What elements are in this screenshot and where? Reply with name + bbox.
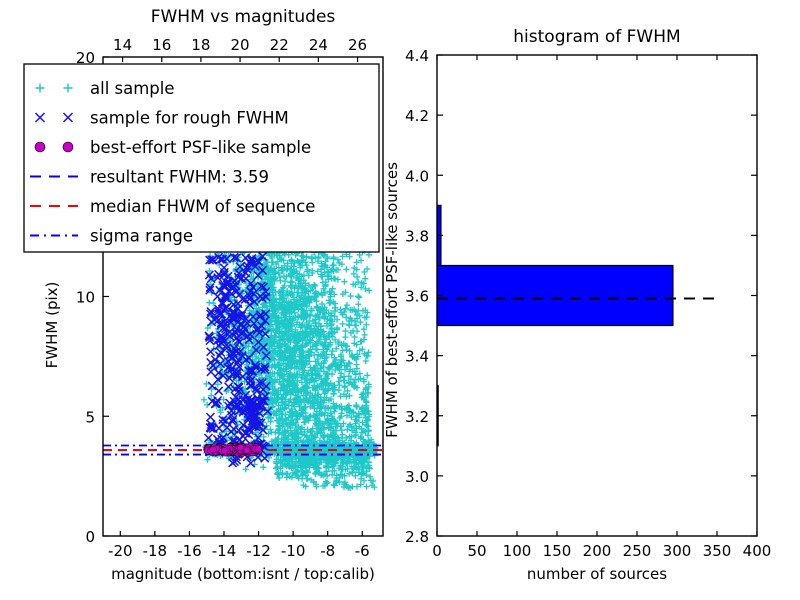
left-x-tick-label: -10 bbox=[281, 542, 306, 560]
left-x-tick-label: -16 bbox=[177, 542, 202, 560]
right-x-tick-label: 150 bbox=[543, 542, 572, 560]
left-x-tick-label: -8 bbox=[320, 542, 335, 560]
right-y-tick-label: 2.8 bbox=[405, 528, 429, 546]
left-y-tick-label: 5 bbox=[85, 408, 95, 426]
right-x-tick-label: 350 bbox=[703, 542, 732, 560]
left-x-tick-label: -14 bbox=[212, 542, 237, 560]
legend-label: median FHWM of sequence bbox=[90, 197, 315, 216]
left-top-tick-label: 26 bbox=[348, 36, 367, 54]
left-y-tick-label: 10 bbox=[76, 289, 95, 307]
left-top-tick-label: 24 bbox=[309, 36, 328, 54]
right-panel-title: histogram of FWHM bbox=[513, 27, 680, 47]
left-y-tick-label: 0 bbox=[85, 528, 95, 546]
right-x-tick-label: 250 bbox=[623, 542, 652, 560]
histogram-bar bbox=[437, 265, 673, 325]
right-x-tick-label: 300 bbox=[663, 542, 692, 560]
left-x-tick-label: -12 bbox=[246, 542, 271, 560]
legend-label: sigma range bbox=[90, 227, 193, 246]
legend-label: best-effort PSF-like sample bbox=[90, 138, 311, 157]
right-panel-ylabel: FWHM of best-effort PSF-like sources bbox=[383, 162, 401, 438]
right-y-tick-label: 3.2 bbox=[405, 408, 429, 426]
left-panel-title: FWHM vs magnitudes bbox=[151, 7, 336, 27]
figure-canvas: -20-18-16-14-12-10-8-6 14161820222426 05… bbox=[0, 0, 800, 600]
right-y-tick-label: 3.8 bbox=[405, 227, 429, 245]
right-panel-xlabel: number of sources bbox=[527, 565, 667, 583]
legend-label: sample for rough FWHM bbox=[90, 109, 289, 128]
legend-frame bbox=[24, 64, 379, 252]
left-top-tick-label: 18 bbox=[191, 36, 210, 54]
right-x-tick-label: 200 bbox=[583, 542, 612, 560]
right-y-tick-label: 4.2 bbox=[405, 107, 429, 125]
right-y-tick-label: 4.4 bbox=[405, 47, 429, 65]
right-x-tick-label: 400 bbox=[743, 542, 772, 560]
left-top-tick-label: 14 bbox=[113, 36, 132, 54]
right-y-tick-label: 3.6 bbox=[405, 288, 429, 306]
left-x-tick-label: -6 bbox=[355, 542, 370, 560]
left-panel-ylabel: FWHM (pix) bbox=[43, 282, 61, 369]
left-top-tick-label: 22 bbox=[270, 36, 289, 54]
legend-label: resultant FWHM: 3.59 bbox=[90, 168, 269, 187]
legend-marker-circle bbox=[63, 142, 73, 152]
right-y-tick-label: 3.0 bbox=[405, 468, 429, 486]
left-top-tick-label: 16 bbox=[152, 36, 171, 54]
legend-label: all sample bbox=[90, 79, 175, 98]
legend-marker-circle bbox=[35, 142, 45, 152]
right-x-tick-label: 50 bbox=[467, 542, 486, 560]
left-top-tick-label: 20 bbox=[231, 36, 250, 54]
right-y-tick-label: 3.4 bbox=[405, 348, 429, 366]
right-y-tick-label: 4.0 bbox=[405, 167, 429, 185]
right-x-tick-label: 100 bbox=[503, 542, 532, 560]
matplotlib-figure: -20-18-16-14-12-10-8-6 14161820222426 05… bbox=[0, 0, 800, 600]
right-x-tick-label: 0 bbox=[432, 542, 442, 560]
left-x-tick-label: -18 bbox=[143, 542, 168, 560]
legend[interactable]: all samplesample for rough FWHMbest-effo… bbox=[24, 64, 379, 252]
series-psf-like bbox=[204, 443, 263, 458]
left-panel-xlabel: magnitude (bottom:isnt / top:calib) bbox=[111, 565, 375, 583]
left-x-tick-label: -20 bbox=[108, 542, 133, 560]
